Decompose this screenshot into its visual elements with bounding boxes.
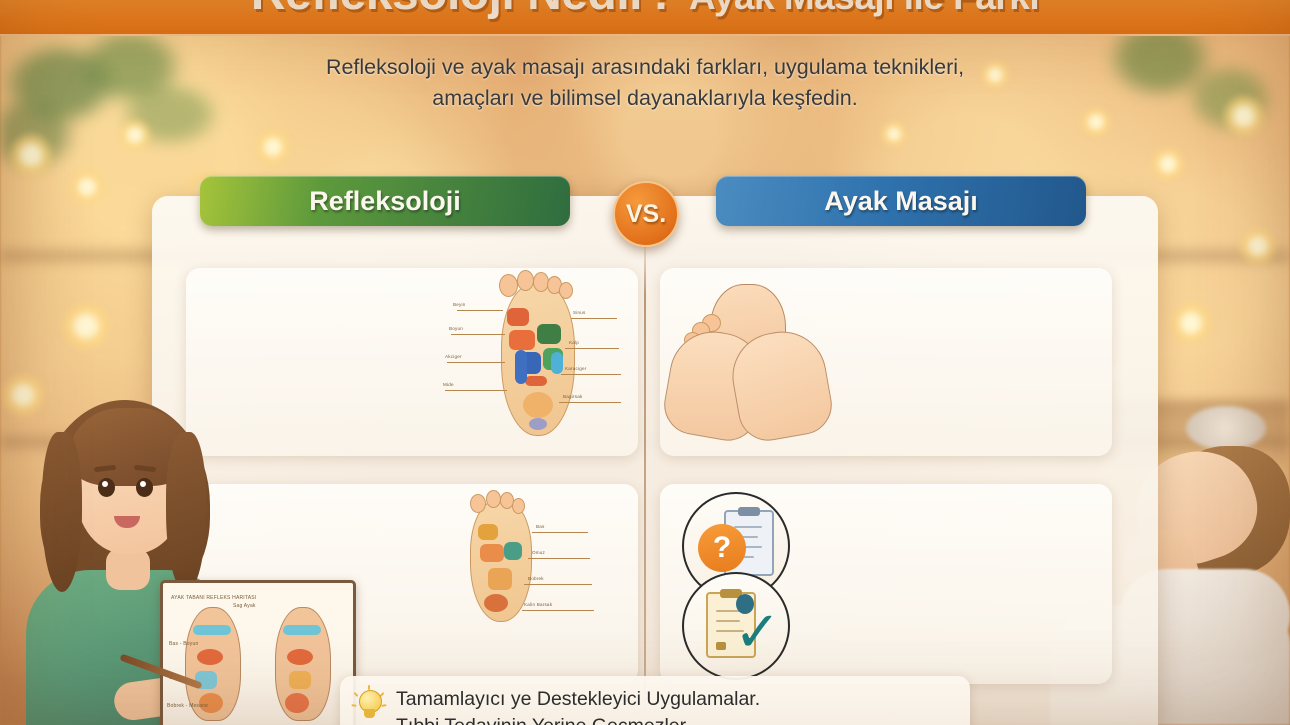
reflex-zone — [523, 392, 553, 418]
page-title-sub: Ayak Masajı ile Farkı — [689, 0, 1039, 17]
column-header-label: Refleksoloji — [309, 186, 461, 217]
toe — [559, 282, 573, 299]
question-mark-icon: ? — [698, 524, 746, 572]
column-header-refleksoloji[interactable]: Refleksoloji — [200, 176, 570, 226]
page-subtitle: Refleksoloji ve ayak masajı arasındaki f… — [325, 52, 965, 114]
label-leader — [524, 584, 592, 585]
footer-note-line-2: Tıbbi Tedavinin Yerine Geçmezler. — [396, 715, 690, 725]
candle-icon — [68, 168, 106, 206]
reflex-zone — [509, 330, 535, 350]
label-leader — [447, 362, 505, 363]
bulb-ray — [354, 692, 359, 697]
label-leader — [565, 348, 619, 349]
reflex-zone — [488, 568, 512, 590]
reflex-zone — [515, 350, 527, 384]
label-leader — [457, 310, 503, 311]
lightbulb-icon — [354, 688, 384, 722]
footer-note-text: Tamamlayıcı ye Destekleyici Uygulamalar.… — [396, 686, 760, 725]
toe — [517, 270, 534, 291]
card-bilimsel-dayanak: ? ✓ Bilimsel Dayanak Daha Fazla Klinik A… — [660, 484, 1112, 684]
candle-icon — [1222, 94, 1266, 138]
label-leader — [528, 558, 590, 559]
reflex-zone — [197, 649, 223, 665]
rolled-towels — [1186, 406, 1266, 450]
candle-icon — [8, 132, 54, 178]
candle-icon — [1168, 300, 1214, 346]
reflexology-chart-poster: AYAK TABANI REFLEKS HARITASI Sag Ayak Ba… — [160, 580, 356, 725]
check-icon: ✓ — [734, 604, 781, 660]
panel-center-divider — [644, 236, 646, 725]
candle-icon — [1150, 146, 1186, 182]
label-leader — [532, 532, 588, 533]
toe — [512, 498, 525, 514]
bulb-ray — [381, 704, 386, 707]
label-leader — [522, 610, 594, 611]
clipboard-clip — [738, 507, 760, 516]
infographic-canvas: Refleksoloji VS. Ayak Masajı — [0, 0, 1290, 725]
footer-note-line-1: Tamamlayıcı ye Destekleyici Uygulamalar. — [396, 688, 760, 710]
hair-side-left — [42, 432, 82, 592]
reflex-zone — [289, 671, 311, 689]
candle-icon — [118, 118, 152, 152]
card-refleksoloji-teknik: Beyin Boyun Akciger Mide Sinus Kalp Kara… — [186, 268, 638, 456]
reflex-zone — [529, 418, 547, 430]
reflex-zone — [551, 352, 563, 374]
reflexology-foot-map-icon: Beyin Boyun Akciger Mide Sinus Kalp Kara… — [441, 278, 633, 448]
label-leader — [571, 318, 617, 319]
candle-icon — [980, 60, 1010, 90]
reflex-zone — [537, 324, 561, 344]
bulb-base — [364, 709, 375, 718]
candle-icon — [254, 128, 292, 166]
toe — [486, 490, 501, 508]
hair-side-right — [166, 432, 206, 592]
label-leader — [445, 390, 507, 391]
label-leader — [561, 374, 621, 375]
reflex-zone — [504, 542, 522, 560]
eye — [136, 478, 153, 497]
reflex-zone — [287, 649, 313, 665]
reflex-zone — [525, 376, 547, 386]
column-header-ayak-masaji[interactable]: Ayak Masajı — [716, 176, 1086, 226]
reflex-zone — [193, 625, 231, 635]
bulb-ray — [351, 704, 356, 707]
reflex-zone — [480, 544, 504, 562]
candle-icon — [60, 300, 112, 352]
candle-icon — [1080, 106, 1112, 138]
vs-badge: VS. — [613, 181, 679, 247]
label-leader — [451, 334, 505, 335]
hands-massaging-foot-icon — [666, 280, 834, 446]
vs-label: VS. — [626, 200, 666, 229]
page-title: Refleksoloji Nedir? Ayak Masajı ile Fark… — [0, 0, 1290, 21]
footer-note: Tamamlayıcı ye Destekleyici Uygulamalar.… — [340, 676, 970, 725]
checked-clipboard-icon: ✓ — [682, 572, 790, 680]
reflex-zone — [478, 524, 498, 540]
label-leader — [559, 402, 621, 403]
page-title-main: Refleksoloji Nedir? — [251, 0, 676, 20]
card-ayakmasaji-amac: Amaç Kas Dokusuna Yönelik Yoğurma ve Ova… — [660, 268, 1112, 456]
reflex-zone — [507, 308, 529, 326]
title-banner: Refleksoloji Nedir? Ayak Masajı ile Fark… — [0, 0, 1290, 36]
column-header-label: Ayak Masajı — [824, 186, 978, 217]
toe — [499, 274, 518, 297]
reflexology-chart-poster-icon: Bas Omuz Bobrek Kalin Barsak — [424, 498, 624, 674]
reflex-zone — [484, 594, 508, 612]
reflex-zone — [285, 693, 309, 713]
eye — [98, 478, 115, 497]
candle-icon — [880, 120, 908, 148]
clipboard-line — [716, 642, 726, 650]
neck — [106, 548, 150, 590]
clipboard-line — [734, 526, 762, 528]
candle-icon — [1238, 226, 1278, 266]
toe — [470, 494, 486, 513]
reflex-zone — [283, 625, 321, 635]
